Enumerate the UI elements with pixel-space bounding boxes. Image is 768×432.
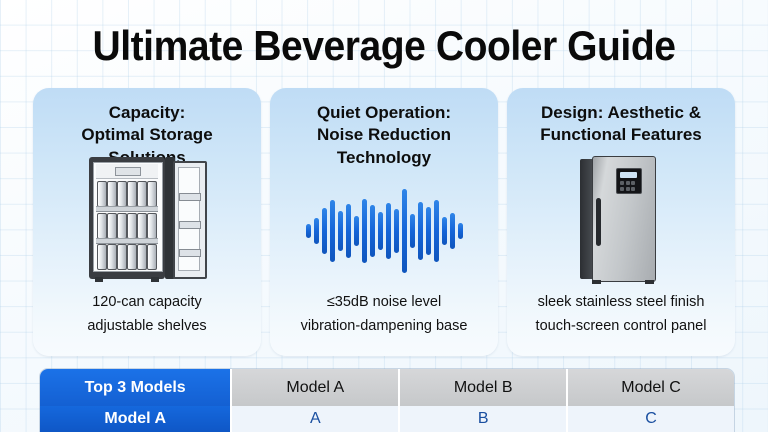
audio-waveform-icon xyxy=(306,179,463,283)
infographic-canvas: Ultimate Beverage Cooler Guide Capacity:… xyxy=(0,0,768,432)
card-heading-design: Design: Aesthetic & Functional Features xyxy=(515,102,727,147)
waveform-bar xyxy=(458,223,463,239)
table-cell-a: A xyxy=(230,406,398,432)
card-bullets-quiet-operation: ≤35dB noise level vibration-dampening ba… xyxy=(280,291,488,338)
waveform-bar xyxy=(378,212,383,250)
control-panel-icon xyxy=(616,168,642,194)
waveform-bar xyxy=(450,213,455,249)
table-cell-b: B xyxy=(398,406,566,432)
waveform-bar xyxy=(322,208,327,254)
waveform-bar xyxy=(346,204,351,258)
waveform-bar xyxy=(434,200,439,262)
table-header-row: Top 3 Models Model A Model B Model C xyxy=(40,369,734,406)
page-title: Ultimate Beverage Cooler Guide xyxy=(27,22,741,70)
card-bullets-design: sleek stainless steel finish touch-scree… xyxy=(517,291,725,338)
table-cell-c: C xyxy=(566,406,734,432)
feature-card-quiet-operation: Quiet Operation: Noise Reduction Technol… xyxy=(270,88,498,356)
waveform-bar xyxy=(426,207,431,255)
feature-card-row: Capacity: Optimal Storage Solutions xyxy=(33,88,735,356)
waveform-bar xyxy=(306,224,311,238)
table-cell-row-label: Model A xyxy=(40,406,230,432)
card-heading-quiet-operation: Quiet Operation: Noise Reduction Technol… xyxy=(278,102,490,169)
waveform-bar xyxy=(442,217,447,245)
waveform-bar xyxy=(362,199,367,263)
comparison-table: Top 3 Models Model A Model B Model C Mod… xyxy=(40,369,734,432)
waveform-bar xyxy=(418,202,423,260)
feature-card-capacity: Capacity: Optimal Storage Solutions xyxy=(33,88,261,356)
table-header-cell-models: Top 3 Models xyxy=(40,369,230,406)
card-illustration-design xyxy=(507,154,735,284)
card-illustration-quiet-operation xyxy=(270,166,498,296)
waveform-bar xyxy=(402,189,407,273)
table-header-cell-model-b: Model B xyxy=(398,369,566,406)
waveform-bar xyxy=(410,214,415,248)
feature-card-design: Design: Aesthetic & Functional Features … xyxy=(507,88,735,356)
table-header-cell-model-a: Model A xyxy=(230,369,398,406)
open-beverage-fridge-with-cans-icon xyxy=(85,155,209,283)
table-row: Model A A B C xyxy=(40,406,734,432)
waveform-bar xyxy=(370,205,375,257)
stainless-steel-cooler-icon xyxy=(578,154,664,284)
waveform-bar xyxy=(394,209,399,253)
card-illustration-capacity xyxy=(33,154,261,284)
waveform-bar xyxy=(314,218,319,244)
waveform-bar xyxy=(338,211,343,251)
waveform-bar xyxy=(386,203,391,259)
table-header-cell-model-c: Model C xyxy=(566,369,734,406)
waveform-bar xyxy=(330,200,335,262)
card-bullets-capacity: 120-can capacity adjustable shelves xyxy=(43,291,251,338)
waveform-bar xyxy=(354,216,359,246)
